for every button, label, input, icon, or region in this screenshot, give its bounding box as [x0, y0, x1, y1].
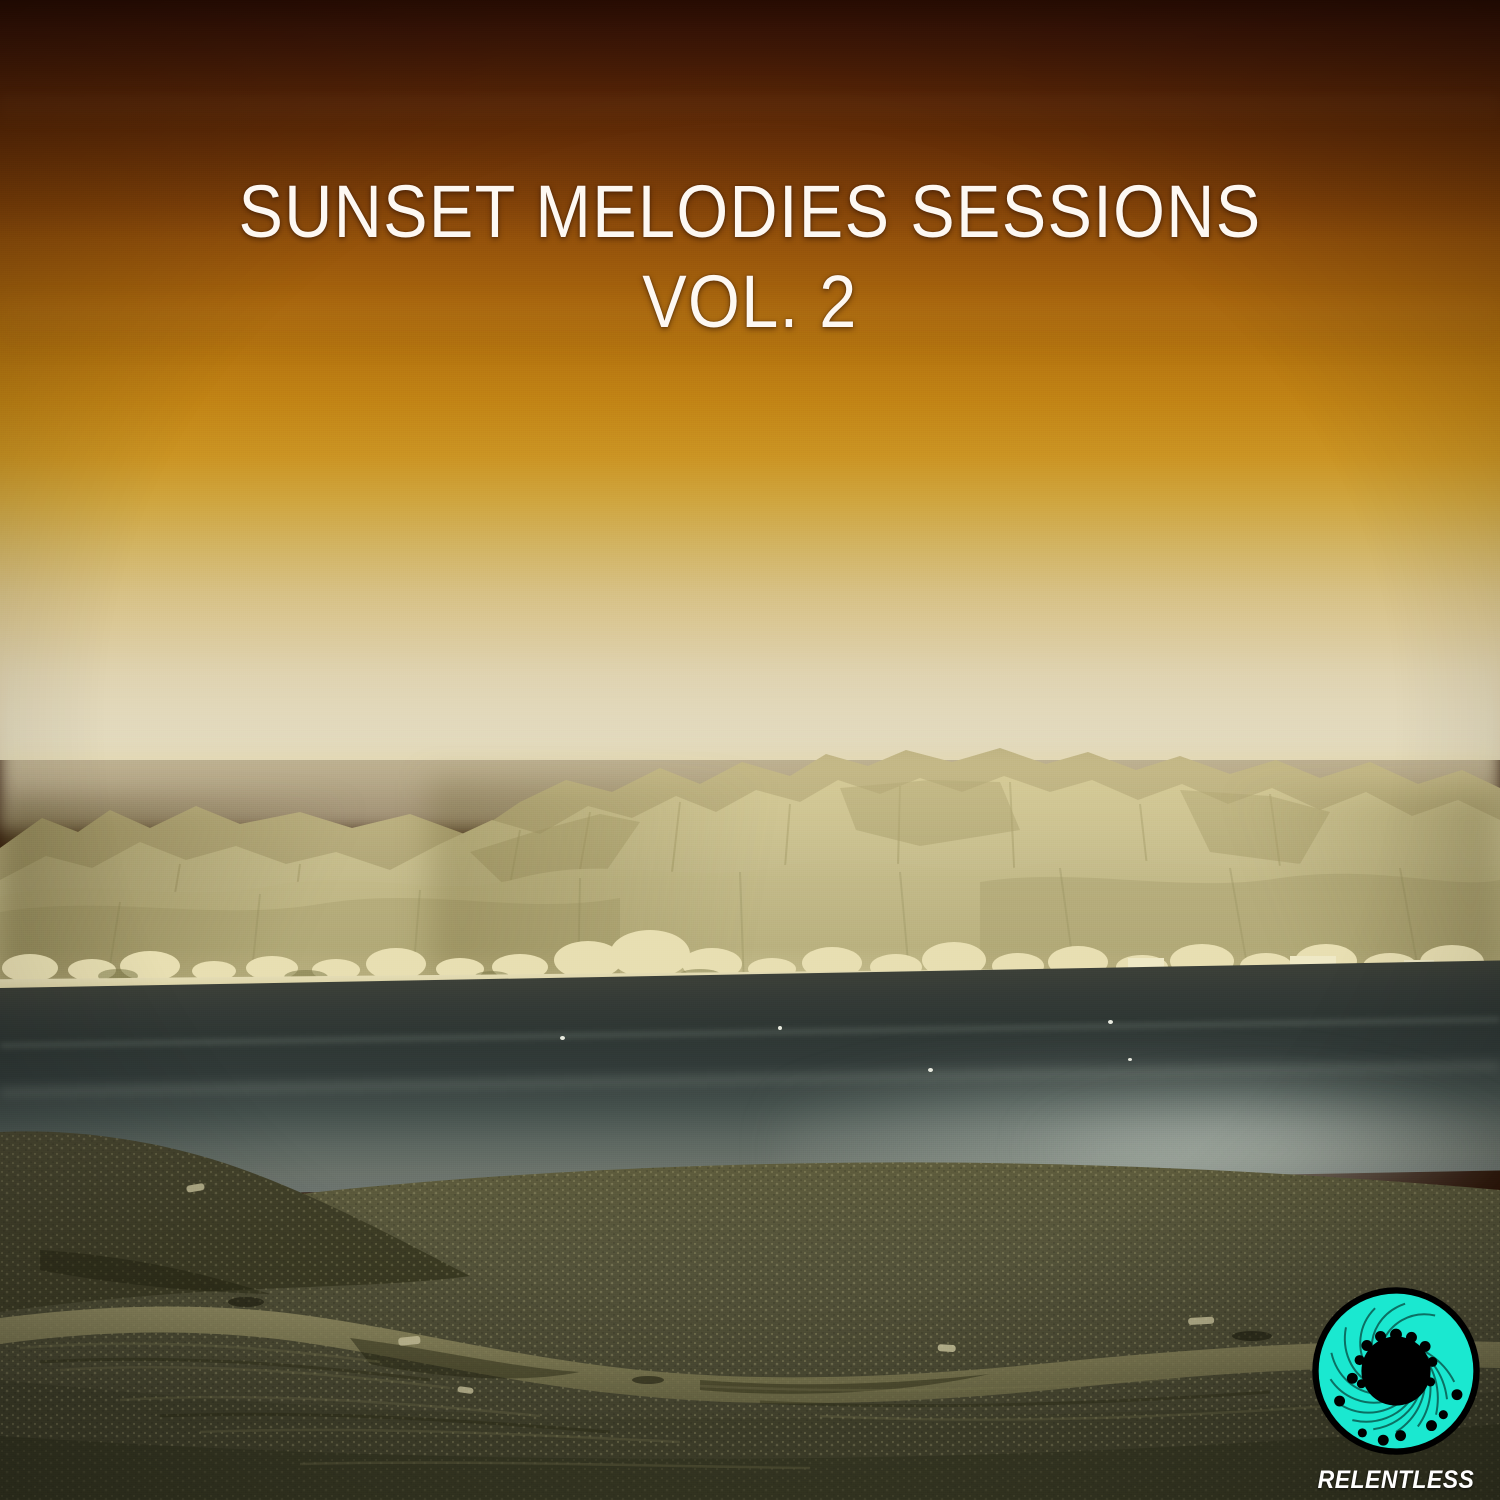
foreground-gravel-beach — [0, 1080, 1500, 1500]
album-title-line-1: SUNSET MELODIES SESSIONS — [75, 170, 1425, 254]
record-label-logo-block[interactable]: RELENTLESS — [1296, 1280, 1496, 1495]
album-title-block: SUNSET MELODIES SESSIONS VOL. 2 — [0, 170, 1500, 350]
water-speck — [1108, 1020, 1113, 1024]
water-speck — [928, 1068, 933, 1072]
sky-cloud-band-upper — [0, 96, 1500, 130]
camera-shutter-iris-icon[interactable] — [1305, 1280, 1487, 1462]
water-speck — [778, 1026, 782, 1030]
album-title-line-2: VOL. 2 — [75, 254, 1425, 350]
record-label-name: RELENTLESS — [1304, 1466, 1488, 1495]
album-cover: SUNSET MELODIES SESSIONS VOL. 2 — [0, 0, 1500, 1500]
water-speck — [560, 1036, 565, 1040]
water-speck — [1128, 1058, 1132, 1061]
